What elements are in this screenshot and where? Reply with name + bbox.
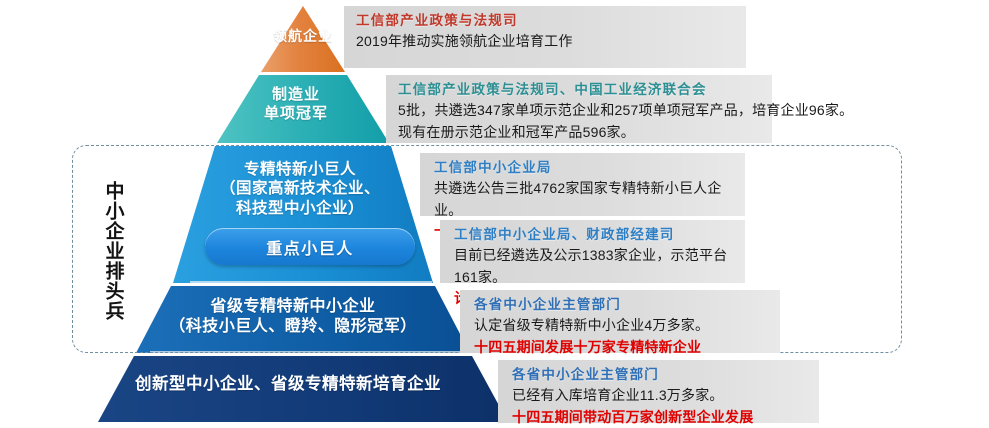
info-panel-manufacturing-champion: 工信部产业政策与法规司、中国工业经济联合会 5批，共遴选347家单项示范企业和2… xyxy=(386,75,772,143)
info-panel-apex: 工信部产业政策与法规司 2019年推动实施领航企业培育工作 xyxy=(344,6,746,68)
info-line-mc-1: 5批，共遴选347家单项示范企业和257项单项冠军产品，培育企业96家。 xyxy=(398,100,772,121)
info-line-klg-1: 目前已经遴选及公示1383家企业，示范平台161家。 xyxy=(454,245,745,288)
info-highlight-provincial-sme: 十四五期间发展十万家专精特新企业 xyxy=(474,337,780,358)
tier-label-apex: 领航企业 xyxy=(272,27,334,45)
info-authority-key-little-giant: 工信部中小企业局、财政部经建司 xyxy=(454,225,745,245)
tier-label-little-giant: 专精特新小巨人 （国家高新技术企业、 科技型中小企业） xyxy=(185,160,415,218)
key-little-giant-pill[interactable]: 重点小巨人 xyxy=(205,228,415,265)
info-authority-manufacturing-champion: 工信部产业政策与法规司、中国工业经济联合会 xyxy=(398,80,772,100)
info-panel-innovative-sme: 各省中小企业主管部门 已经有入库培育企业11.3万多家。 十四五期间带动百万家创… xyxy=(498,360,819,423)
info-authority-little-giant: 工信部中小企业局 xyxy=(434,158,745,178)
tier-label-innovative-sme: 创新型中小企业、省级专精特新培育企业 xyxy=(78,374,498,395)
info-authority-apex: 工信部产业政策与法规司 xyxy=(356,11,746,31)
info-line-mc-2: 现有在册示范企业和冠军产品596家。 xyxy=(398,122,772,143)
info-line-apex-1: 2019年推动实施领航企业培育工作 xyxy=(356,31,746,52)
info-panel-key-little-giant: 工信部中小企业局、财政部经建司 目前已经遴选及公示1383家企业，示范平台161… xyxy=(440,220,745,283)
key-little-giant-label: 重点小巨人 xyxy=(266,235,354,259)
info-line-psme-1: 认定省级专精特新中小企业4万多家。 xyxy=(474,315,780,336)
info-line-isme-1: 已经有入库培育企业11.3万多家。 xyxy=(512,385,819,406)
tier-label-manufacturing-champion: 制造业 单项冠军 xyxy=(236,86,356,124)
diagram-canvas: 中小企业排头兵 领航企业 制造业 单项冠军 专精特新小巨人 （国家高新技术企业、… xyxy=(0,0,989,426)
info-panel-provincial-sme: 各省中小企业主管部门 认定省级专精特新中小企业4万多家。 十四五期间发展十万家专… xyxy=(460,290,780,353)
info-authority-provincial-sme: 各省中小企业主管部门 xyxy=(474,295,780,315)
info-authority-innovative-sme: 各省中小企业主管部门 xyxy=(512,365,819,385)
tier-label-provincial-sme: 省级专精特新中小企业 （科技小巨人、瞪羚、隐形冠军） xyxy=(128,297,458,337)
info-panel-little-giant: 工信部中小企业局 共遴选公告三批4762家国家专精特新小巨人企业。 十四五期间发… xyxy=(420,153,745,216)
info-line-lg-1: 共遴选公告三批4762家国家专精特新小巨人企业。 xyxy=(434,178,745,221)
info-highlight-innovative-sme: 十四五期间带动百万家创新型企业发展 xyxy=(512,407,819,428)
